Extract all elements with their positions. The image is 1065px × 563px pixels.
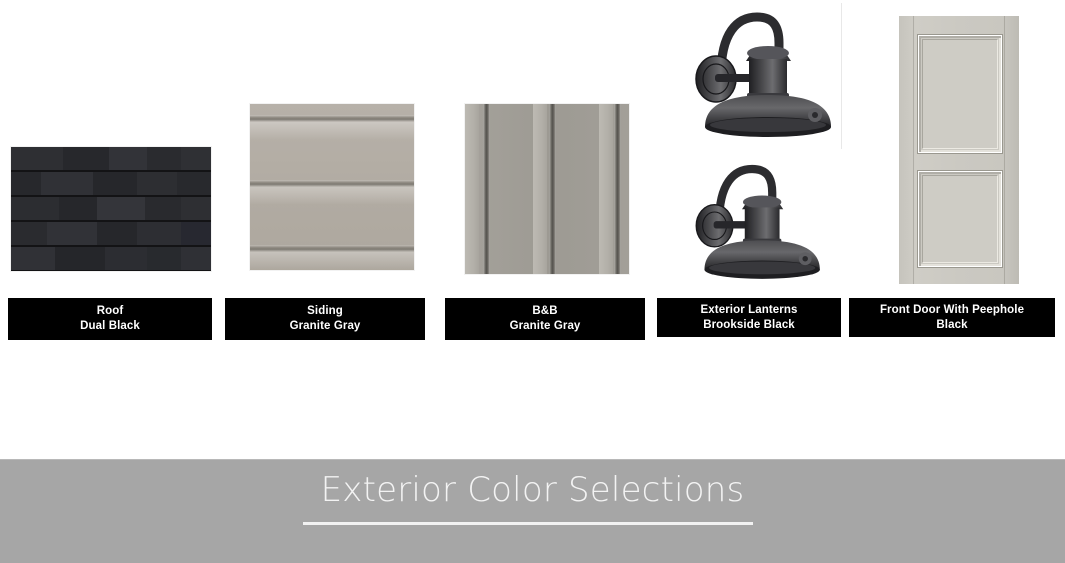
door-panel-lower [917, 170, 1003, 268]
lanterns-category: Exterior Lanterns [701, 303, 798, 318]
roof-swatch [10, 146, 212, 272]
roof-color-name: Dual Black [80, 319, 140, 334]
shingle-texture [11, 147, 211, 271]
lanterns-label: Exterior Lanterns Brookside Black [657, 298, 841, 337]
siding-category: Siding [307, 304, 343, 319]
wall-lantern-icon [675, 3, 841, 149]
selection-card-siding[interactable]: Siding Granite Gray [225, 103, 425, 340]
selection-card-roof[interactable]: Roof Dual Black [8, 146, 212, 340]
roof-category: Roof [97, 304, 124, 319]
bnb-category: B&B [532, 304, 557, 319]
exterior-color-selection-board: Roof Dual Black Siding Granite Gray [0, 0, 1065, 562]
bottom-banner: Exterior Color Selections [0, 459, 1065, 563]
lap-siding-texture [250, 104, 414, 270]
bnb-swatch [464, 103, 630, 275]
siding-color-name: Granite Gray [290, 319, 361, 334]
lanterns-color-name: Brookside Black [703, 318, 795, 333]
bnb-color-name: Granite Gray [510, 319, 581, 334]
siding-label: Siding Granite Gray [225, 298, 425, 340]
front-door-swatch [899, 16, 1019, 284]
title-underline [303, 522, 753, 525]
siding-swatch [249, 103, 415, 271]
lantern-photo-top [675, 3, 842, 149]
wall-lantern-icon [677, 156, 829, 290]
board-and-batten-texture [465, 104, 629, 274]
front-door-label: Front Door With Peephole Black [849, 298, 1055, 337]
selection-card-front-door[interactable]: Front Door With Peephole Black [849, 0, 1055, 340]
bnb-label: B&B Granite Gray [445, 298, 645, 340]
selection-card-bnb[interactable]: B&B Granite Gray [445, 103, 645, 340]
lantern-photo-bottom [677, 156, 829, 290]
roof-label: Roof Dual Black [8, 298, 212, 340]
selection-card-lanterns[interactable]: Exterior Lanterns Brookside Black [657, 0, 841, 340]
front-door-category: Front Door With Peephole [880, 303, 1024, 318]
board-title: Exterior Color Selections [0, 470, 1065, 510]
door-panel-upper [917, 34, 1003, 154]
front-door-color-name: Black [936, 318, 967, 333]
